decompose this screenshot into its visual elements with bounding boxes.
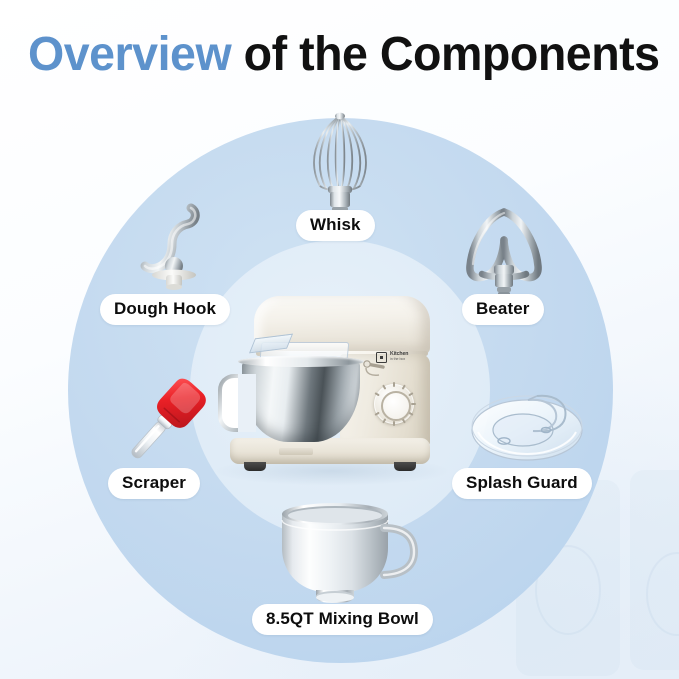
mixer-bowl-rim [238,356,364,367]
tilt-head-lever [363,360,391,378]
knob-tick [411,403,416,405]
component-image-splash-guard [468,374,586,470]
brand-name-line2: in the box [390,357,408,362]
knob-tick [393,421,395,426]
component-image-scraper [112,368,218,474]
label-mixing-bowl[interactable]: 8.5QT Mixing Bowl [252,604,433,635]
mixer-bowl-handle [218,374,256,432]
label-whisk[interactable]: Whisk [296,210,375,241]
label-dough-hook[interactable]: Dough Hook [100,294,230,325]
background-texture-block [630,470,679,670]
label-beater[interactable]: Beater [462,294,544,325]
mixer-foot [394,462,416,471]
label-splash-guard[interactable]: Splash Guard [452,468,592,499]
knob-tick [374,412,379,416]
mixer-foot [244,462,266,471]
component-image-dough-hook [128,196,220,296]
component-image-whisk [294,108,386,212]
knob-tick [393,382,395,387]
page-title-rest: of the Components [244,28,660,81]
component-image-mixing-bowl [258,496,428,608]
page-title: Overview of the Components [28,24,649,86]
knob-tick [402,384,406,389]
brand-logo-text: Kitchen in the box [390,352,408,362]
mixer-base [230,438,430,464]
speed-control-knob[interactable] [374,384,414,424]
mixer-base-badge [279,448,313,455]
page-title-highlight: Overview [28,28,231,81]
infographic-canvas: Overview of the Components [0,0,679,679]
product-stand-mixer: Kitchen in the box [208,296,456,478]
component-image-beater [456,204,552,300]
knob-tick [374,392,379,396]
label-scraper[interactable]: Scraper [108,468,200,499]
knob-tick [382,384,386,389]
